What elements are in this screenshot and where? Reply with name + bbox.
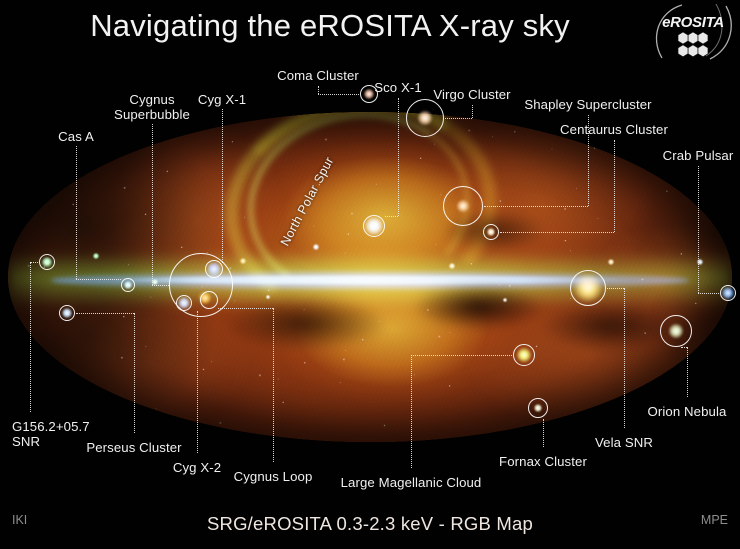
leader-segment (484, 206, 588, 207)
label-large-magellanic-cloud: Large Magellanic Cloud (341, 476, 482, 491)
leader-segment (411, 355, 512, 356)
leader-segment (472, 105, 473, 118)
leader-segment (76, 146, 77, 279)
leader-segment (681, 347, 687, 348)
leader-segment (698, 166, 699, 293)
label-sco-x-1: Sco X-1 (374, 81, 422, 96)
leader-segment (76, 279, 121, 280)
leader-segment (385, 216, 398, 217)
marker-virgo-cluster (406, 99, 444, 137)
leader-segment (500, 232, 614, 233)
label-orion-nebula: Orion Nebula (648, 405, 727, 420)
credit-iki: IKI (12, 513, 27, 527)
label-cyg-x-1: Cyg X-1 (198, 93, 246, 108)
label-fornax-cluster: Fornax Cluster (499, 455, 587, 470)
leader-segment (218, 308, 273, 309)
leader-segment (687, 347, 688, 397)
leader-segment (411, 355, 412, 468)
label-cygnus-loop: Cygnus Loop (234, 470, 313, 485)
leader-segment (134, 313, 135, 433)
screenshot-root: Navigating the eROSITA X-ray sky eROSITA (0, 0, 740, 549)
leader-segment (197, 311, 198, 453)
page-title: Navigating the eROSITA X-ray sky (0, 8, 660, 44)
marker-crab-pulsar (720, 285, 736, 301)
leader-segment (445, 118, 472, 119)
label-virgo-cluster: Virgo Cluster (433, 88, 510, 103)
marker-g156-2-05-7-snr (39, 254, 55, 270)
erosita-logo: eROSITA (652, 2, 734, 62)
label-perseus-cluster: Perseus Cluster (86, 441, 181, 456)
marker-large-magellanic-cloud (513, 344, 535, 366)
leader-segment (698, 293, 719, 294)
leader-segment (30, 262, 31, 412)
marker-centaurus-cluster (483, 224, 499, 240)
marker-cygnus-loop (200, 291, 218, 309)
label-centaurus-cluster: Centaurus Cluster (560, 123, 668, 138)
leader-segment (30, 262, 38, 263)
leader-segment (273, 308, 274, 462)
leader-segment (607, 288, 624, 289)
leader-segment (614, 140, 615, 232)
leader-segment (398, 98, 399, 216)
marker-fornax-cluster (528, 398, 548, 418)
label-crab-pulsar: Crab Pulsar (663, 149, 734, 164)
marker-cyg-x-1 (205, 260, 223, 278)
label-shapley-supercluster: Shapley Supercluster (524, 98, 651, 113)
leader-segment (318, 86, 319, 94)
label-coma-cluster: Coma Cluster (277, 69, 359, 84)
marker-cas-a (121, 278, 135, 292)
leader-segment (543, 419, 544, 447)
credit-mpe: MPE (701, 513, 728, 527)
leader-segment (624, 288, 625, 428)
marker-orion-nebula (660, 315, 692, 347)
leader-segment (222, 109, 223, 262)
leader-segment (152, 285, 169, 286)
leader-segment (318, 94, 359, 95)
label-cas-a: Cas A (58, 130, 94, 145)
marker-vela-snr (570, 270, 606, 306)
marker-shapley-supercluster (443, 186, 483, 226)
label-g156-2-05-7-snr: G156.2+05.7 SNR (12, 420, 90, 449)
leader-segment (76, 313, 134, 314)
marker-perseus-cluster (59, 305, 75, 321)
marker-cyg-x-2 (176, 295, 192, 311)
marker-sco-x-1 (363, 215, 385, 237)
label-vela-snr: Vela SNR (595, 436, 653, 451)
map-caption: SRG/eROSITA 0.3-2.3 keV - RGB Map (0, 513, 740, 535)
label-cygnus-superbubble: Cygnus Superbubble (114, 93, 190, 122)
label-cyg-x-2: Cyg X-2 (173, 461, 221, 476)
leader-segment (152, 124, 153, 285)
